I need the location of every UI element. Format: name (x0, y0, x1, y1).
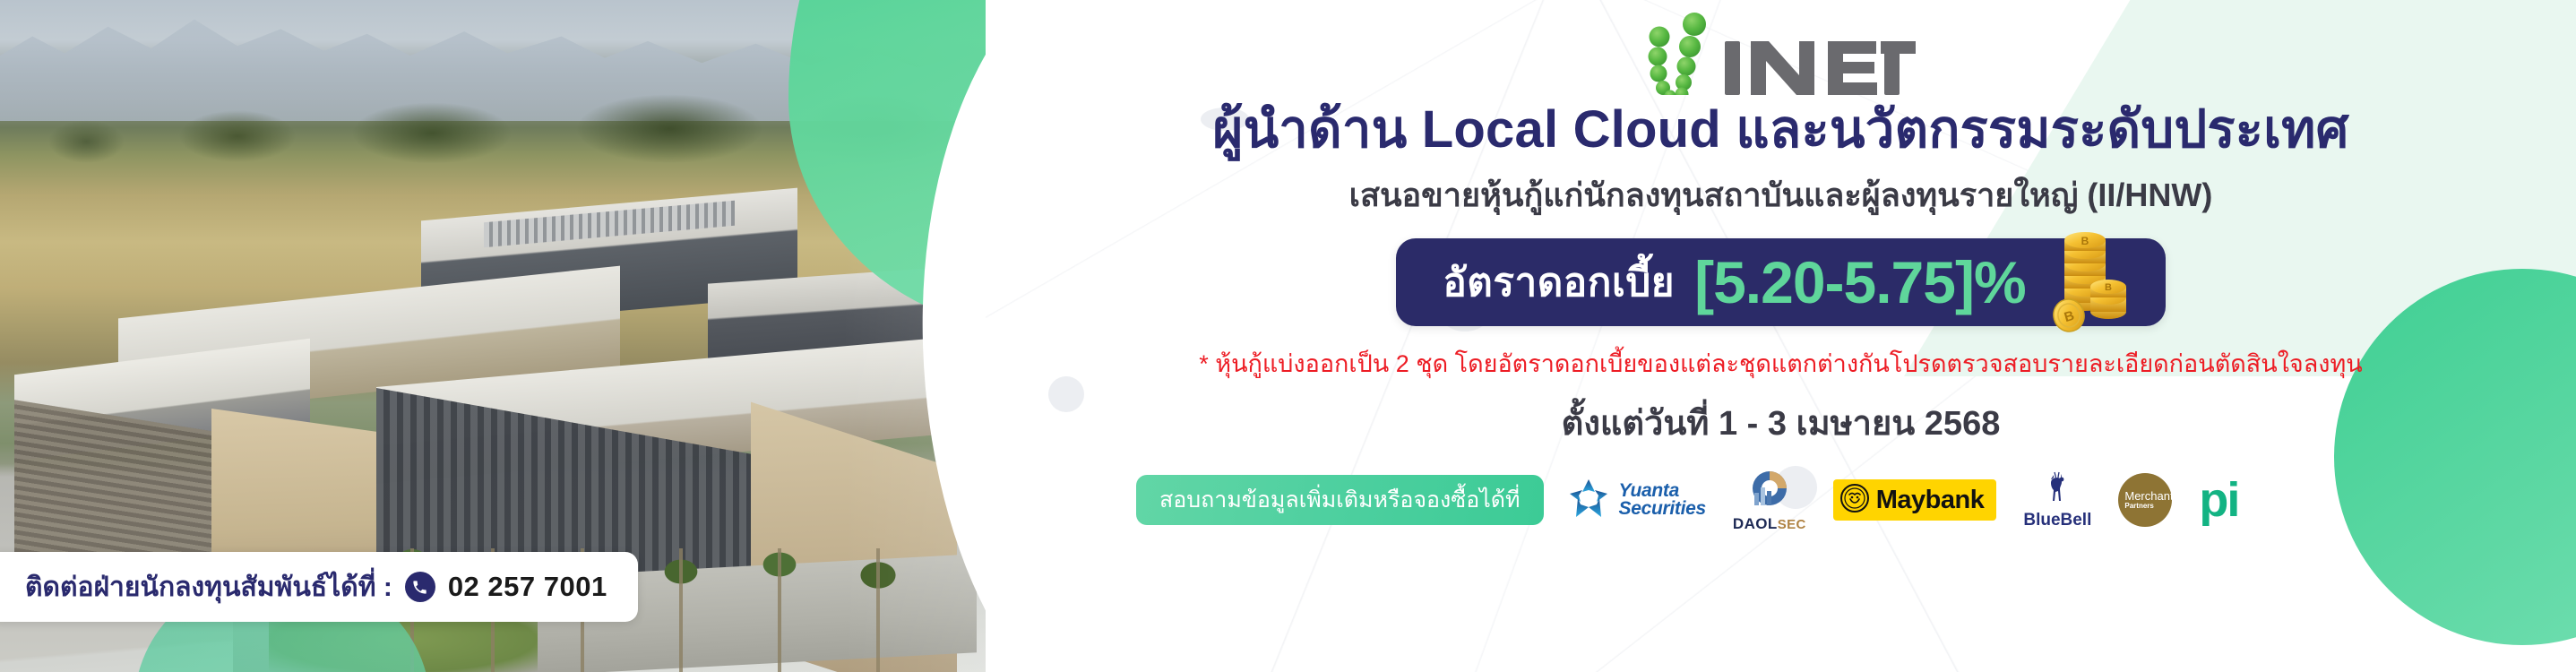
promo-banner: ผู้นำด้าน Local Cloud และนวัตกรรมระดับปร… (0, 0, 2576, 672)
daol-wordmark: DAOLSEC (1733, 515, 1806, 533)
offer-period: ตั้งแต่วันที่ 1 - 3 เมษายน 2568 (1562, 395, 2001, 450)
interest-rate-label: อัตราดอกเบี้ย (1443, 251, 1675, 314)
maybank-tiger-icon (1840, 484, 1869, 517)
partner-logo-list: Yuanta Securities (1567, 468, 2239, 533)
interest-rate-value: [5.20-5.75]% (1694, 253, 2026, 312)
cta-and-partners-row: สอบถามข้อมูลเพิ่มเติมหรือจองซื้อได้ที่ (986, 468, 2576, 533)
partner-logo-yuanta[interactable]: Yuanta Securities (1567, 477, 1706, 524)
partner-logo-bluebell[interactable]: BlueBell (2023, 470, 2091, 530)
partner-logo-daolsec[interactable]: DAOLSEC (1733, 468, 1806, 533)
banner-content: ผู้นำด้าน Local Cloud และนวัตกรรมระดับปร… (986, 0, 2576, 672)
bluebell-wordmark: BlueBell (2023, 511, 2091, 530)
daol-circle-chart-icon (1749, 468, 1790, 513)
partner-logo-merchant-partners[interactable]: Merchant Partners (2118, 473, 2172, 527)
inet-wordmark (1723, 36, 1916, 95)
bluebell-deer-icon (2039, 470, 2075, 510)
contact-phone-number: 02 257 7001 (448, 571, 607, 603)
merchant-wordmark-sub: Partners (2124, 503, 2153, 511)
inet-sprout-dots-logo-icon (1646, 13, 1716, 95)
page-title: ผู้นำด้าน Local Cloud และนวัตกรรมระดับปร… (1212, 102, 2348, 159)
maybank-wordmark: Maybank (1876, 486, 1985, 515)
partner-logo-pi[interactable]: pi (2199, 481, 2238, 520)
inquiry-cta-button[interactable]: สอบถามข้อมูลเพิ่มเติมหรือจองซื้อได้ที่ (1136, 475, 1544, 525)
interest-rate-badge: อัตราดอกเบี้ย [5.20-5.75]% (1396, 238, 2165, 326)
disclaimer-text: * หุ้นกู้แบ่งออกเป็น 2 ชุด โดยอัตราดอกเบ… (1199, 344, 2362, 383)
phone-icon (405, 572, 435, 602)
gold-coin-stack-icon: B B B (2046, 238, 2128, 326)
pi-wordmark-icon: pi (2199, 481, 2238, 520)
inet-logo (1646, 13, 1916, 95)
merchant-wordmark-main: Merchant (2124, 490, 2173, 503)
svg-text:B: B (2105, 282, 2112, 293)
merchant-partners-circle-icon: Merchant Partners (2118, 473, 2172, 527)
yuanta-star-icon (1567, 477, 1610, 524)
investor-relations-contact-card: ติดต่อฝ่ายนักลงทุนสัมพันธ์ได้ที่ : 02 25… (0, 552, 638, 622)
yuanta-wordmark: Yuanta Securities (1619, 482, 1706, 519)
svg-text:B: B (2081, 235, 2089, 247)
page-subtitle: เสนอขายหุ้นกู้แก่นักลงทุนสถาบันและผู้ลงท… (1349, 169, 2213, 220)
partner-logo-maybank[interactable]: Maybank (1833, 479, 1997, 521)
contact-label: ติดต่อฝ่ายนักลงทุนสัมพันธ์ได้ที่ : (25, 566, 392, 608)
